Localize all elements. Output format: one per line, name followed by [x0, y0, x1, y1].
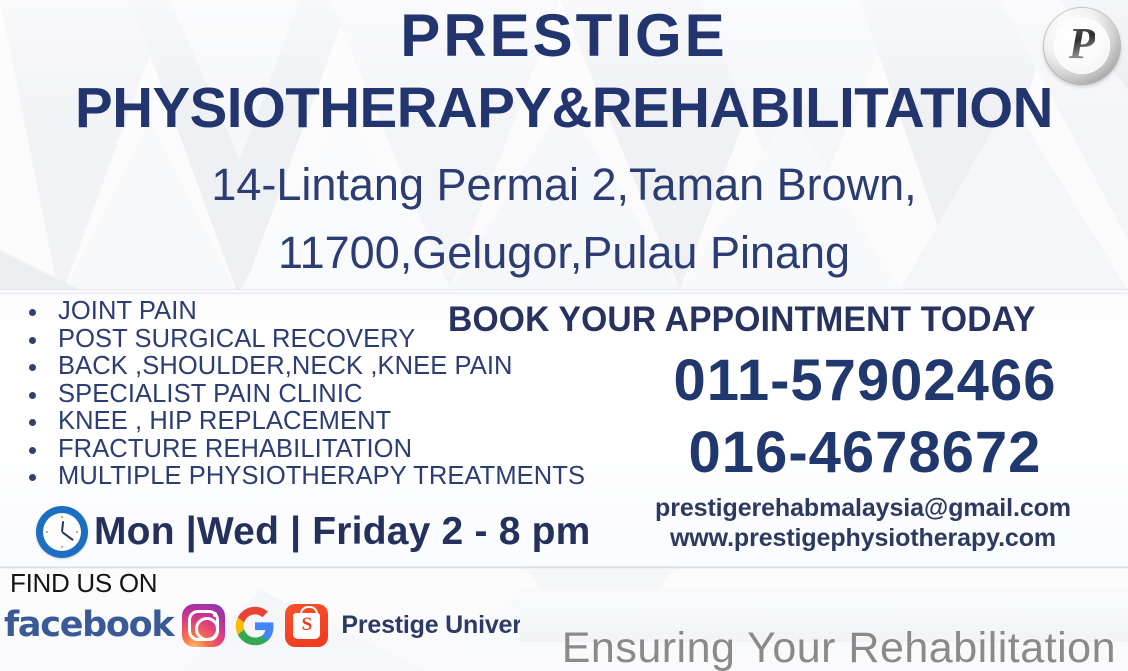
tagline-text: Ensuring Your Rehabilitation — [562, 624, 1116, 671]
instagram-icon[interactable] — [182, 604, 225, 647]
find-us-on-label: FIND US ON — [10, 568, 157, 599]
clock-face — [43, 513, 81, 551]
list-item: SPECIALIST PAIN CLINIC — [14, 381, 634, 409]
prestige-logo-icon: P — [1044, 8, 1120, 84]
list-item: BACK ,SHOULDER,NECK ,KNEE PAIN — [14, 353, 634, 381]
google-g-glyph — [234, 605, 276, 647]
clock-icon — [36, 506, 88, 558]
opening-hours-text: Mon |Wed | Friday 2 - 8 pm — [94, 510, 591, 554]
brand-name-line1: PRESTIGE — [0, 6, 1128, 66]
email-address[interactable]: prestigerehabmalaysia@gmail.com — [612, 494, 1114, 523]
phone-number-secondary[interactable]: 016-4678672 — [620, 424, 1110, 482]
clock-pip-6 — [61, 546, 63, 548]
shopee-letter: S — [302, 615, 313, 634]
website-url[interactable]: www.prestigephysiotherapy.com — [612, 524, 1114, 553]
clock-pip-9 — [46, 531, 48, 533]
clock-pip-12 — [61, 516, 63, 518]
logo-inner-circle: P — [1054, 18, 1110, 74]
shopee-bag-glyph: S — [293, 613, 320, 639]
address-line-1: 14-Lintang Permai 2,Taman Brown, — [0, 160, 1128, 210]
appointment-headline: BOOK YOUR APPOINTMENT TODAY — [448, 300, 1089, 340]
address-line-2: 11700,Gelugor,Pulau Pinang — [0, 228, 1128, 278]
facebook-label[interactable]: facebook — [4, 608, 173, 643]
logo-letter: P — [1069, 22, 1096, 66]
opening-hours: Mon |Wed | Friday 2 - 8 pm — [36, 506, 591, 558]
list-item: KNEE , HIP REPLACEMENT — [14, 408, 634, 436]
clock-minute-hand — [61, 531, 74, 541]
social-links-row: facebook S Prestige Universal — [4, 604, 556, 647]
instagram-dot — [213, 612, 218, 617]
list-item: FRACTURE REHABILITATION — [14, 436, 634, 464]
list-item: MULTIPLE PHYSIOTHERAPY TREATMENTS — [14, 463, 634, 491]
brand-name-line2: PHYSIOTHERAPY&REHABILITATION — [6, 80, 1123, 137]
phone-number-primary[interactable]: 011-57902466 — [620, 352, 1110, 410]
clock-pip-3 — [76, 531, 78, 533]
poster-header: PRESTIGE PHYSIOTHERAPY&REHABILITATION 14… — [0, 0, 1128, 290]
google-icon[interactable] — [234, 605, 276, 647]
poster-canvas: PRESTIGE PHYSIOTHERAPY&REHABILITATION 14… — [0, 0, 1128, 671]
shopee-icon[interactable]: S — [285, 604, 328, 647]
